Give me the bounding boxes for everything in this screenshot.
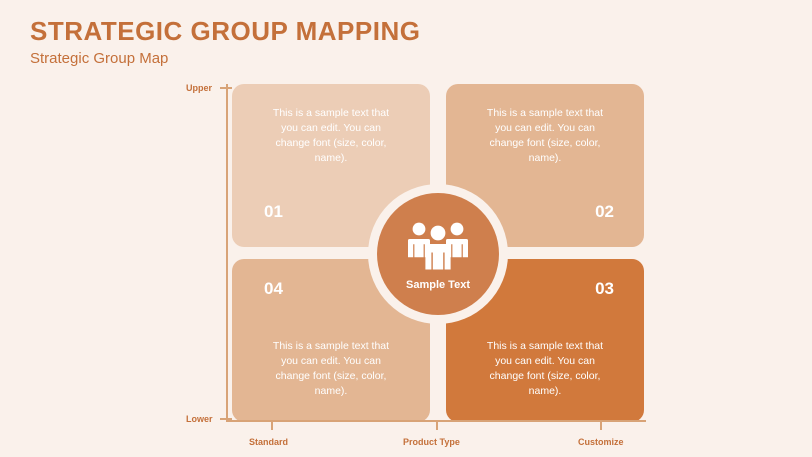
x-axis-label-customize: Customize [578, 437, 624, 447]
x-axis-title: Product Type [403, 437, 460, 447]
quadrant-02-text: This is a sample text that you can edit.… [446, 106, 644, 166]
quadrant-01-number: 01 [264, 202, 283, 222]
quadrant-03-text: This is a sample text that you can edit.… [446, 339, 644, 399]
slide: STRATEGIC GROUP MAPPING Strategic Group … [0, 0, 812, 457]
quadrant-01-text: This is a sample text that you can edit.… [232, 106, 430, 166]
x-axis-label-standard: Standard [249, 437, 288, 447]
strategic-group-map: This is a sample text that you can edit.… [232, 84, 644, 422]
y-axis-tick-lower [220, 418, 232, 420]
x-axis-tick-customize [600, 420, 602, 430]
people-group-icon [405, 219, 471, 271]
center-label: Sample Text [406, 279, 470, 291]
x-axis-tick-standard [271, 420, 273, 430]
quadrant-03-number: 03 [595, 279, 614, 299]
quadrant-04-text: This is a sample text that you can edit.… [232, 339, 430, 399]
y-axis-label-lower: Lower [186, 414, 213, 424]
quadrant-02-number: 02 [595, 202, 614, 222]
page-subtitle: Strategic Group Map [30, 50, 168, 67]
y-axis-label-upper: Upper [186, 83, 212, 93]
center-badge[interactable]: Sample Text [377, 193, 499, 315]
y-axis-tick-upper [220, 87, 232, 89]
x-axis-tick-mid [436, 420, 438, 430]
quadrant-04-number: 04 [264, 279, 283, 299]
y-axis-line [226, 84, 228, 422]
page-title: STRATEGIC GROUP MAPPING [30, 16, 420, 47]
